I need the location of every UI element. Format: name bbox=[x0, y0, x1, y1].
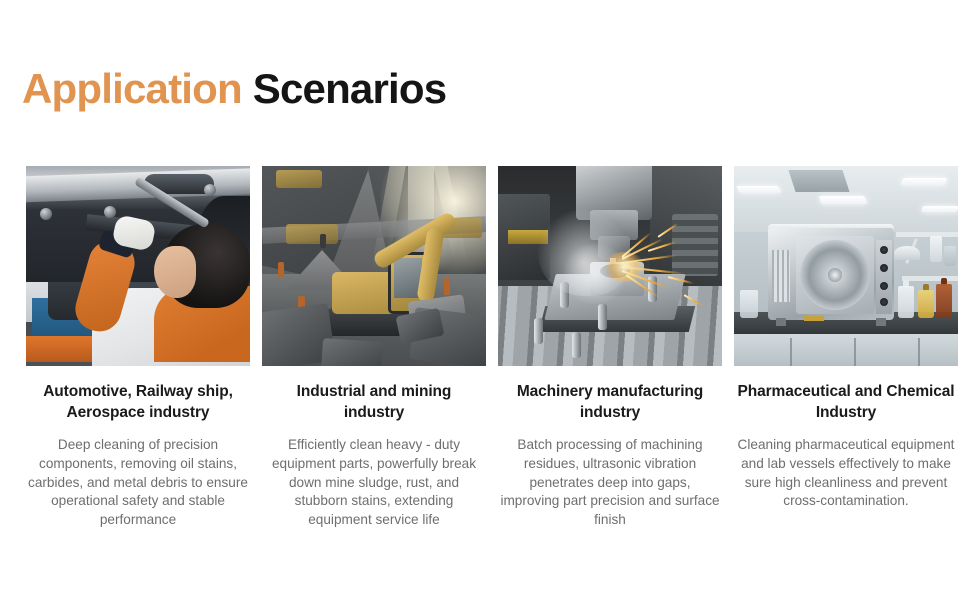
scenario-card-automotive: Automotive, Railway ship, Aerospace indu… bbox=[26, 166, 250, 530]
card-title: Pharmaceutical and Chemical Industry bbox=[737, 382, 955, 423]
mining-quarry-excavator-photo bbox=[262, 166, 486, 366]
card-title: Industrial and mining industry bbox=[265, 382, 483, 423]
cnc-machining-sparks-photo bbox=[498, 166, 722, 366]
scenario-card-machinery: Machinery manufacturing industry Batch p… bbox=[498, 166, 722, 530]
card-description: Cleaning pharmaceutical equipment and la… bbox=[735, 436, 957, 511]
scenario-card-pharmaceutical: Pharmaceutical and Chemical Industry Cle… bbox=[734, 166, 958, 530]
scenario-card-grid: Automotive, Railway ship, Aerospace indu… bbox=[26, 166, 945, 530]
page-title: Application Scenarios bbox=[22, 68, 446, 110]
laboratory-autoclave-sterilizer-photo bbox=[734, 166, 958, 366]
automotive-undercarriage-repair-photo bbox=[26, 166, 250, 366]
scenario-card-mining: Industrial and mining industry Efficient… bbox=[262, 166, 486, 530]
card-title: Machinery manufacturing industry bbox=[501, 382, 719, 423]
page-title-plain: Scenarios bbox=[253, 65, 447, 112]
card-title: Automotive, Railway ship, Aerospace indu… bbox=[29, 382, 247, 423]
page-title-accent: Application bbox=[22, 65, 242, 112]
card-description: Batch processing of machining residues, … bbox=[499, 436, 721, 530]
card-description: Efficiently clean heavy - duty equipment… bbox=[263, 436, 485, 530]
card-description: Deep cleaning of precision components, r… bbox=[27, 436, 249, 530]
